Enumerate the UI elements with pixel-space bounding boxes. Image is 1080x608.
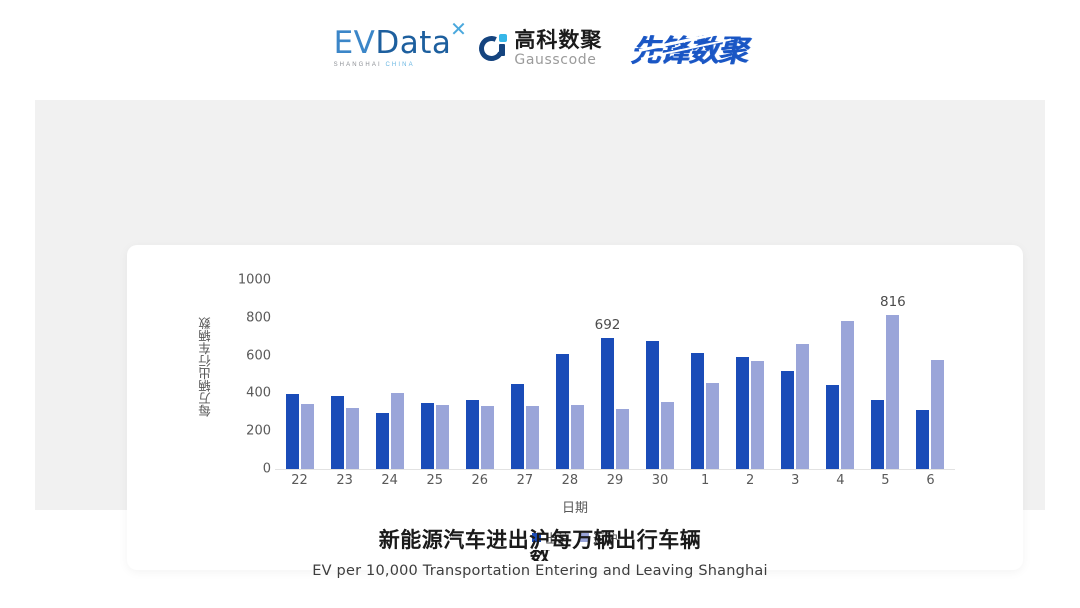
footer-title-cn: 新能源汽车进出沪每万辆出行车辆 (0, 528, 1080, 552)
bar (376, 413, 389, 469)
x-axis-tick: 23 (336, 473, 353, 488)
pioneer-logo: 先锋数聚 (630, 26, 746, 70)
x-axis-tick: 30 (652, 473, 669, 488)
gausscode-en-label: Gausscode (514, 53, 602, 67)
y-axis-tick: 0 (263, 462, 271, 477)
evdata-wordmark: EVData ✕ (334, 28, 452, 59)
x-axis-tick: 27 (517, 473, 534, 488)
bar (571, 405, 584, 469)
x-axis-tick: 2 (746, 473, 754, 488)
gausscode-logo: 高科数聚 Gausscode (479, 30, 602, 67)
x-axis-tick: 26 (472, 473, 489, 488)
bar (691, 353, 704, 469)
bar (466, 400, 479, 469)
bar-group (773, 280, 818, 469)
bar (751, 361, 764, 469)
bar (781, 371, 794, 469)
bar-group (277, 280, 322, 469)
bar-group (502, 280, 547, 469)
bar-group (683, 280, 728, 469)
bar-group (592, 280, 637, 469)
bar (391, 393, 404, 469)
x-mark-icon: ✕ (450, 19, 467, 39)
bar (646, 341, 659, 469)
y-axis-tick: 600 (246, 348, 271, 363)
x-axis-tick: 25 (426, 473, 443, 488)
footer: 新能源汽车进出沪每万辆出行车辆 数 EV per 10,000 Transpor… (0, 528, 1080, 579)
bar-group (367, 280, 412, 469)
y-axis-tick-labels: 02004006008001000 (225, 245, 271, 570)
y-axis-tick: 1000 (238, 273, 271, 288)
x-axis-tick: 24 (381, 473, 398, 488)
plot-area (277, 280, 953, 469)
bar (301, 404, 314, 469)
y-axis-title: 每万辆出行车辆数 (196, 305, 215, 430)
gausscode-mark-icon (479, 34, 507, 62)
gausscode-bar-shape (499, 44, 505, 56)
x-axis-tick: 3 (791, 473, 799, 488)
chart-card: 每万辆出行车辆数 02004006008001000 2223242526272… (127, 245, 1023, 570)
bar (841, 321, 854, 469)
x-axis-tick: 28 (562, 473, 579, 488)
x-axis-title: 日期 (127, 497, 1023, 516)
evdata-logo: EVData ✕ SHANGHAI CHINA (334, 28, 452, 68)
bar (481, 406, 494, 469)
x-axis-tick: 29 (607, 473, 624, 488)
evdata-data-text: Data (375, 25, 451, 61)
bar (331, 396, 344, 469)
bar (286, 394, 299, 469)
x-axis-tick: 22 (291, 473, 308, 488)
evdata-tagline-city: SHANGHAI (334, 62, 382, 68)
bar (436, 405, 449, 469)
bar (511, 384, 524, 469)
bar-group (638, 280, 683, 469)
bar (556, 354, 569, 469)
bar-group (412, 280, 457, 469)
bar-value-label: 816 (880, 294, 906, 310)
bar (826, 385, 839, 469)
bar-chart: 每万辆出行车辆数 02004006008001000 2223242526272… (127, 245, 1023, 570)
bar-value-label: 692 (595, 317, 621, 333)
bar (601, 338, 614, 469)
gausscode-dot-shape (499, 34, 507, 42)
x-axis-tick: 4 (836, 473, 844, 488)
x-axis-tick-labels: 222324252627282930123456 (277, 473, 953, 495)
gausscode-text: 高科数聚 Gausscode (514, 30, 602, 67)
bar (796, 344, 809, 469)
y-axis-tick: 200 (246, 424, 271, 439)
bar (931, 360, 944, 469)
bar-group (728, 280, 773, 469)
x-axis-tick: 6 (926, 473, 934, 488)
bar (886, 315, 899, 469)
bar (661, 402, 674, 469)
bar (871, 400, 884, 469)
bar (526, 406, 539, 470)
bar (421, 403, 434, 469)
evdata-tagline-country: CHINA (386, 62, 415, 68)
evdata-tagline: SHANGHAI CHINA (334, 62, 415, 68)
bar (706, 383, 719, 469)
x-axis-line (275, 469, 955, 470)
x-axis-tick: 5 (881, 473, 889, 488)
evdata-ev-text: EV (334, 25, 376, 61)
bar (736, 357, 749, 469)
bar-group (547, 280, 592, 469)
bar-group (818, 280, 863, 469)
bar-group (322, 280, 367, 469)
bar (346, 408, 359, 469)
bar (916, 410, 929, 469)
y-axis-tick: 800 (246, 310, 271, 325)
chart-panel: 每万辆出行车辆数 02004006008001000 2223242526272… (35, 100, 1045, 510)
x-axis-tick: 1 (701, 473, 709, 488)
y-axis-tick: 400 (246, 386, 271, 401)
bar (616, 409, 629, 469)
logo-bar: EVData ✕ SHANGHAI CHINA 高科数聚 Gausscode 先… (0, 0, 1080, 96)
bar-group (908, 280, 953, 469)
bar-group (457, 280, 502, 469)
gausscode-cn-label: 高科数聚 (514, 30, 602, 51)
footer-title-en: EV per 10,000 Transportation Entering an… (0, 563, 1080, 579)
